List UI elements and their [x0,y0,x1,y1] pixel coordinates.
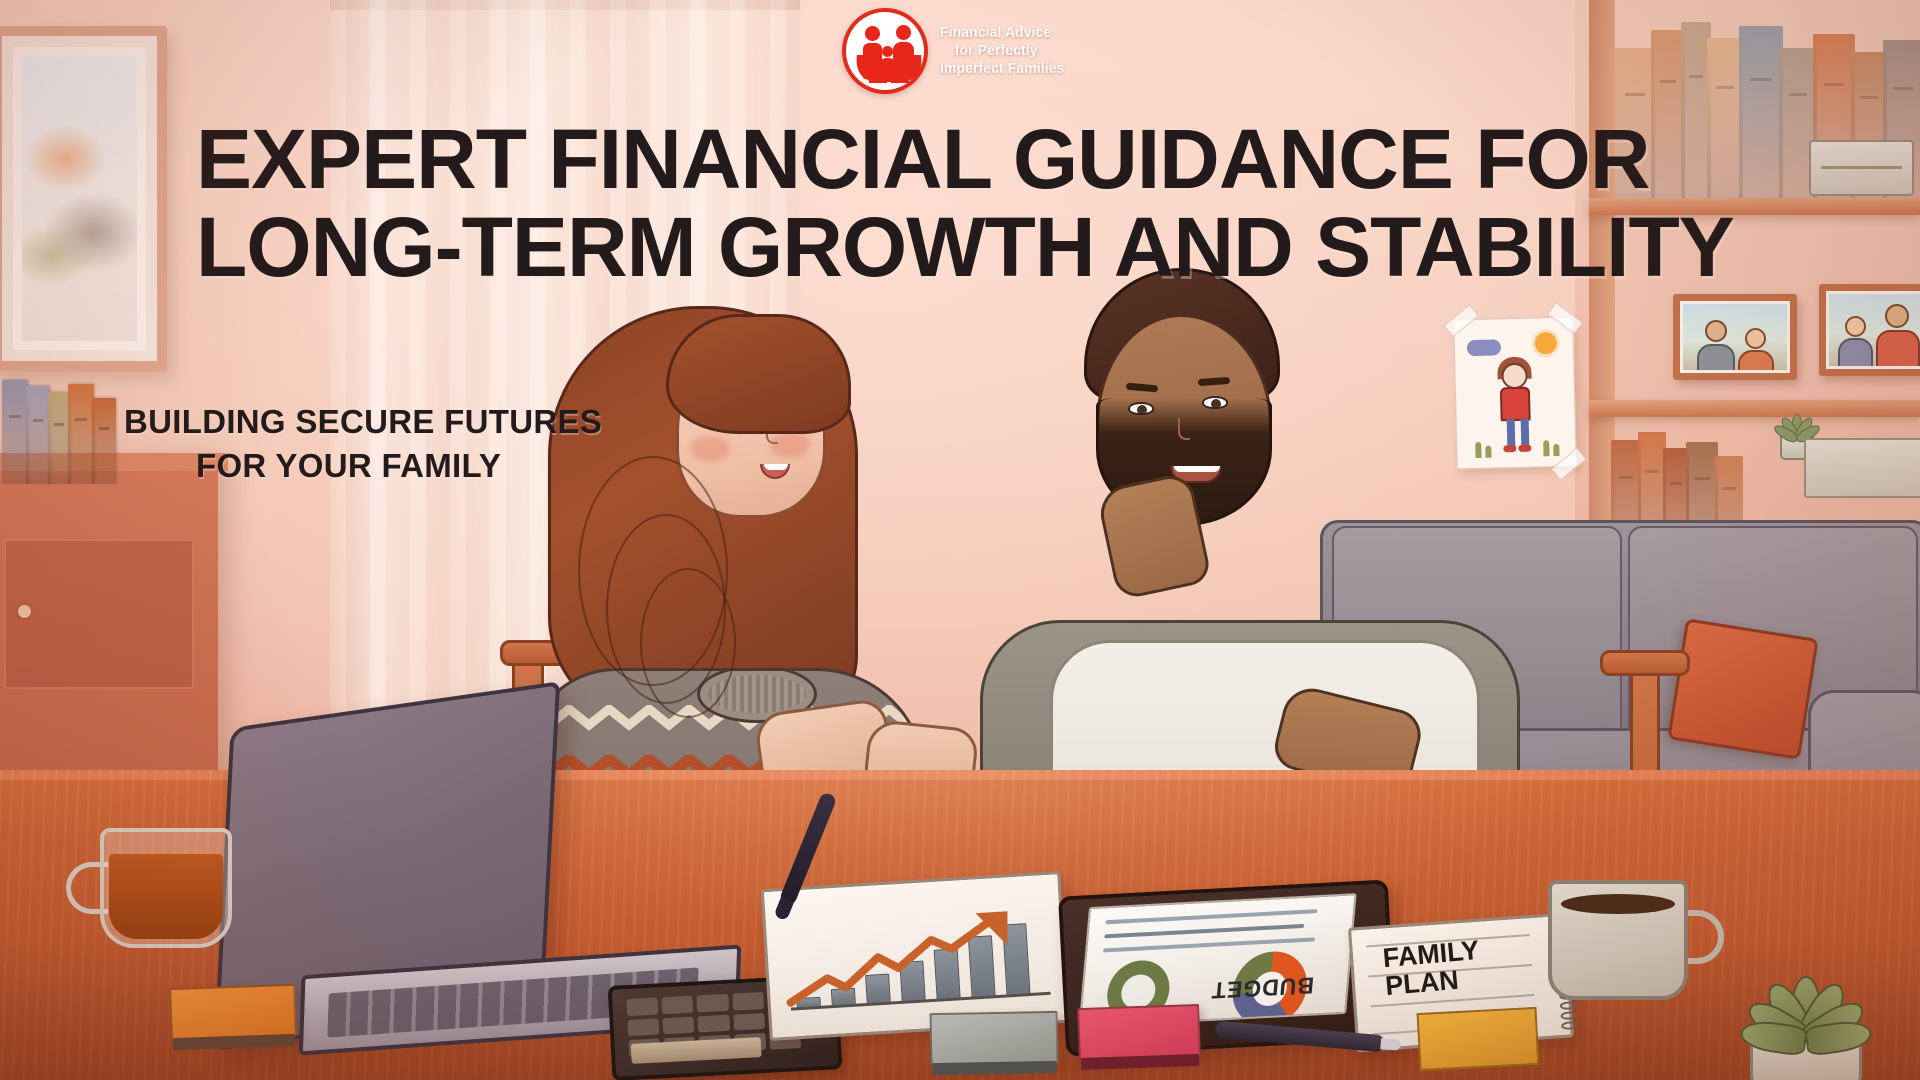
hero-banner: BUDGET FAMILY PLAN [0,0,1920,1080]
vignette-overlay [0,0,1920,1080]
